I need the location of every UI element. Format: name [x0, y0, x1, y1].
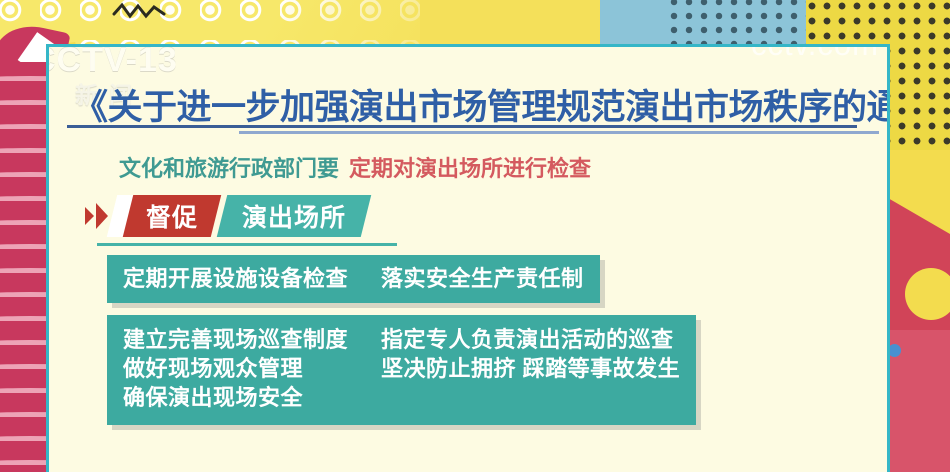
banner-tag-venue: 演出场所: [217, 195, 371, 237]
banner-tag-venue-label: 演出场所: [242, 198, 346, 234]
title-underline-primary: [67, 125, 857, 128]
content-panel: CCTV-13 新闻 cctv.com 《关于进一步加强演出市场管理规范演出市场…: [46, 44, 890, 472]
content-cell: 确保演出现场安全: [123, 383, 381, 412]
content-block-1: 定期开展设施设备检查 落实安全生产责任制: [107, 255, 600, 303]
content-cell: 指定专人负责演出活动的巡查: [381, 325, 674, 354]
content-block-2: 建立完善现场巡查制度 指定专人负责演出活动的巡查 做好现场观众管理 坚决防止拥挤…: [107, 315, 696, 425]
content-cell: 落实安全生产责任制: [381, 264, 584, 293]
banner-underline: [97, 243, 397, 246]
banner-tag-supervise-label: 督促: [146, 198, 198, 234]
cctv-watermark: cctv.com: [751, 44, 879, 63]
content-row: 定期开展设施设备检查 落实安全生产责任制: [123, 264, 584, 293]
background-crimson-wave-band: [0, 62, 46, 472]
content-cell: 坚决防止拥挤 踩踏等事故发生: [381, 354, 680, 383]
title-underline-secondary: [239, 131, 879, 134]
chevron-right-icon: [85, 207, 94, 225]
content-row: 确保演出现场安全: [123, 383, 680, 412]
content-row: 建立完善现场巡查制度 指定专人负责演出活动的巡查: [123, 325, 680, 354]
subtitle: 文化和旅游行政部门要定期对演出场所进行检查: [119, 151, 591, 183]
broadcast-graphic: CCTV-13 新闻 cctv.com 《关于进一步加强演出市场管理规范演出市场…: [0, 0, 950, 472]
subtitle-department: 文化和旅游行政部门要: [119, 156, 339, 181]
chevron-right-icon: [96, 203, 108, 229]
content-cell: 建立完善现场巡查制度: [123, 325, 381, 354]
page-title: 《关于进一步加强演出市场管理规范演出市场秩序的通知》: [73, 79, 873, 130]
content-row: 做好现场观众管理 坚决防止拥挤 踩踏等事故发生: [123, 354, 680, 383]
decor-circle-yellow: [905, 268, 950, 320]
banner-tag-supervise: 督促: [123, 195, 221, 237]
channel-logo-text: CCTV-13: [46, 44, 178, 80]
squiggle-icon: [112, 2, 168, 22]
content-cell: 做好现场观众管理: [123, 354, 381, 383]
section-banner: 督促 演出场所: [85, 195, 366, 237]
subtitle-action: 定期对演出场所进行检查: [349, 156, 591, 181]
content-cell: 定期开展设施设备检查: [123, 264, 381, 293]
